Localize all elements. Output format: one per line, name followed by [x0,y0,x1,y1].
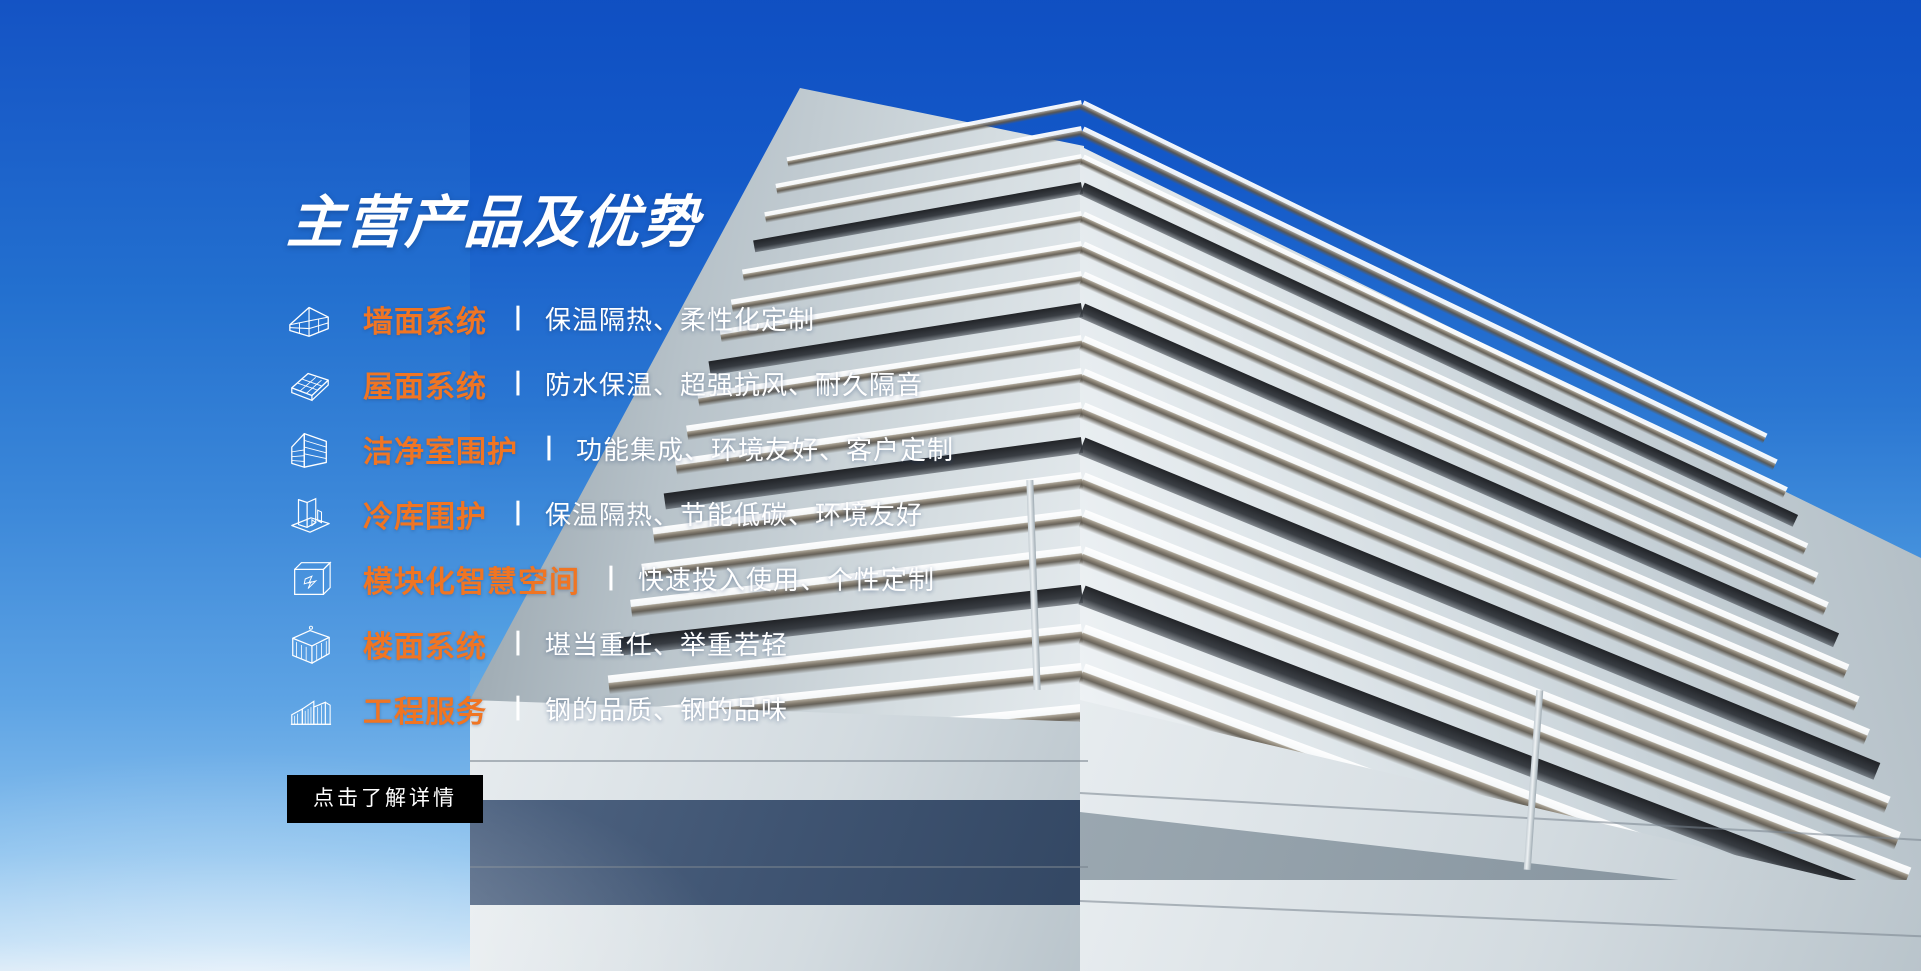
divider-bar: 丨 [505,494,531,531]
product-row[interactable]: 模块化智慧空间丨快速投入使用、个性定制 [287,546,1387,611]
product-name: 模块化智慧空间 [363,557,580,601]
product-row[interactable]: 墙面系统丨保温隔热、柔性化定制 [287,286,1387,351]
product-name: 洁净室围护 [363,427,518,471]
product-description: 堪当重任、举重若轻 [545,625,788,662]
product-description: 快速投入使用、个性定制 [638,560,935,597]
product-description: 保温隔热、节能低碳、环境友好 [545,495,923,532]
product-description: 钢的品质、钢的品味 [545,690,788,727]
cleanroom-icon [287,426,333,472]
page-title: 主营产品及优势 [286,195,1389,252]
divider-bar: 丨 [536,429,562,466]
divider-bar: 丨 [505,299,531,336]
banner-content: 主营产品及优势 墙面系统丨保温隔热、柔性化定制屋面系统丨防水保温、超强抗风、耐久… [287,195,1387,823]
modular-space-icon [287,556,333,602]
wall-system-icon [287,296,333,342]
divider-bar: 丨 [505,689,531,726]
floor-system-icon [287,621,333,667]
wall-panel-right-lower [1080,880,1921,971]
divider-bar: 丨 [598,559,624,596]
wall-panel-left-lower [470,905,1088,971]
product-row[interactable]: 楼面系统丨堪当重任、举重若轻 [287,611,1387,676]
product-row[interactable]: 工程服务丨钢的品质、钢的品味 [287,676,1387,741]
product-name: 楼面系统 [363,622,487,666]
product-name: 冷库围护 [363,492,487,536]
learn-more-button[interactable]: 点击了解详情 [287,775,483,823]
divider-bar: 丨 [505,624,531,661]
product-row[interactable]: 冷库围护丨保温隔热、节能低碳、环境友好 [287,481,1387,546]
cold-storage-icon [287,491,333,537]
panel-seam [470,866,1088,868]
product-description: 保温隔热、柔性化定制 [545,300,815,337]
product-description: 防水保温、超强抗风、耐久隔音 [545,365,923,402]
divider-bar: 丨 [505,364,531,401]
product-row[interactable]: 洁净室围护丨功能集成、环境友好、客户定制 [287,416,1387,481]
product-name: 屋面系统 [363,362,487,406]
roof-system-icon [287,361,333,407]
product-name: 墙面系统 [363,297,487,341]
product-advantage-banner: 主营产品及优势 墙面系统丨保温隔热、柔性化定制屋面系统丨防水保温、超强抗风、耐久… [0,0,1921,971]
engineering-service-icon [287,686,333,732]
product-name: 工程服务 [363,687,487,731]
product-description: 功能集成、环境友好、客户定制 [576,430,954,467]
product-list: 墙面系统丨保温隔热、柔性化定制屋面系统丨防水保温、超强抗风、耐久隔音洁净室围护丨… [287,286,1387,741]
product-row[interactable]: 屋面系统丨防水保温、超强抗风、耐久隔音 [287,351,1387,416]
